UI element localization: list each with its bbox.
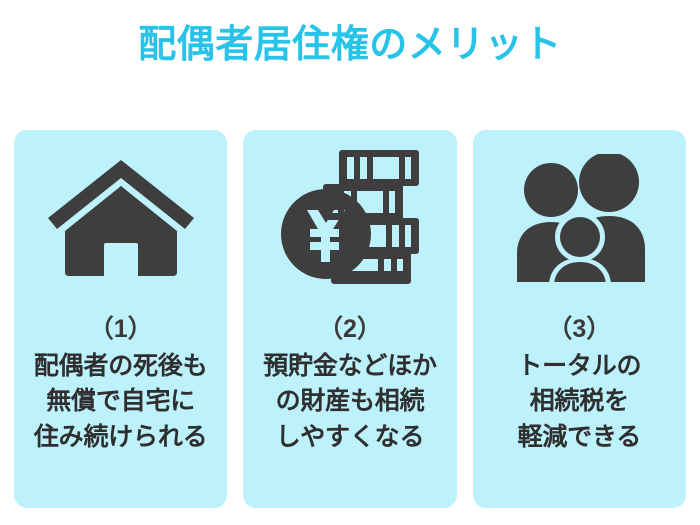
benefit-card-3-line-2: 相続税を (517, 384, 641, 420)
benefit-card-1-text: （1） 配偶者の死後も 無償で自宅に 住み続けられる (14, 305, 227, 508)
benefit-card-2-icon-area (243, 130, 456, 305)
benefit-card-3-lines: トータルの 相続税を 軽減できる (517, 349, 641, 456)
benefit-card-1-number: （1） (89, 313, 153, 347)
benefit-card-1-line-3: 住み続けられる (34, 420, 208, 456)
title-container: 配偶者居住権のメリット (0, 24, 700, 68)
house-icon (46, 159, 196, 277)
benefit-card-2-lines: 預貯金などほか の財産も相続 しやすくなる (263, 349, 437, 456)
benefit-card-1-lines: 配偶者の死後も 無償で自宅に 住み続けられる (34, 349, 208, 456)
benefit-card-1-icon-area (14, 130, 227, 305)
benefit-card-3-number: （3） (547, 313, 611, 347)
benefit-card-3-line-1: トータルの (517, 349, 641, 385)
benefit-card-3-line-3: 軽減できる (517, 420, 641, 456)
money-yen-coin-banknotes-icon (280, 148, 420, 288)
benefit-card-1-line-1: 配偶者の死後も (34, 349, 208, 385)
benefit-card-2-number: （2） (318, 313, 382, 347)
benefit-card-1-line-2: 無償で自宅に (34, 384, 208, 420)
benefit-card-3-text: （3） トータルの 相続税を 軽減できる (473, 305, 686, 508)
family-group-icon (505, 154, 653, 282)
benefit-card-3: （3） トータルの 相続税を 軽減できる (473, 130, 686, 508)
benefit-card-3-icon-area (473, 130, 686, 305)
benefit-card-2-text: （2） 預貯金などほか の財産も相続 しやすくなる (243, 305, 456, 508)
benefit-card-2: （2） 預貯金などほか の財産も相続 しやすくなる (243, 130, 456, 508)
benefit-card-1: （1） 配偶者の死後も 無償で自宅に 住み続けられる (14, 130, 227, 508)
page-title: 配偶者居住権のメリット (138, 24, 562, 68)
benefit-card-2-line-3: しやすくなる (263, 420, 437, 456)
benefit-card-list: （1） 配偶者の死後も 無償で自宅に 住み続けられる (14, 130, 686, 508)
infographic-root: 配偶者居住権のメリット （1） 配偶者の死後も 無償で自宅に 住み続けられる (0, 0, 700, 525)
benefit-card-2-line-1: 預貯金などほか (263, 349, 437, 385)
benefit-card-2-line-2: の財産も相続 (263, 384, 437, 420)
